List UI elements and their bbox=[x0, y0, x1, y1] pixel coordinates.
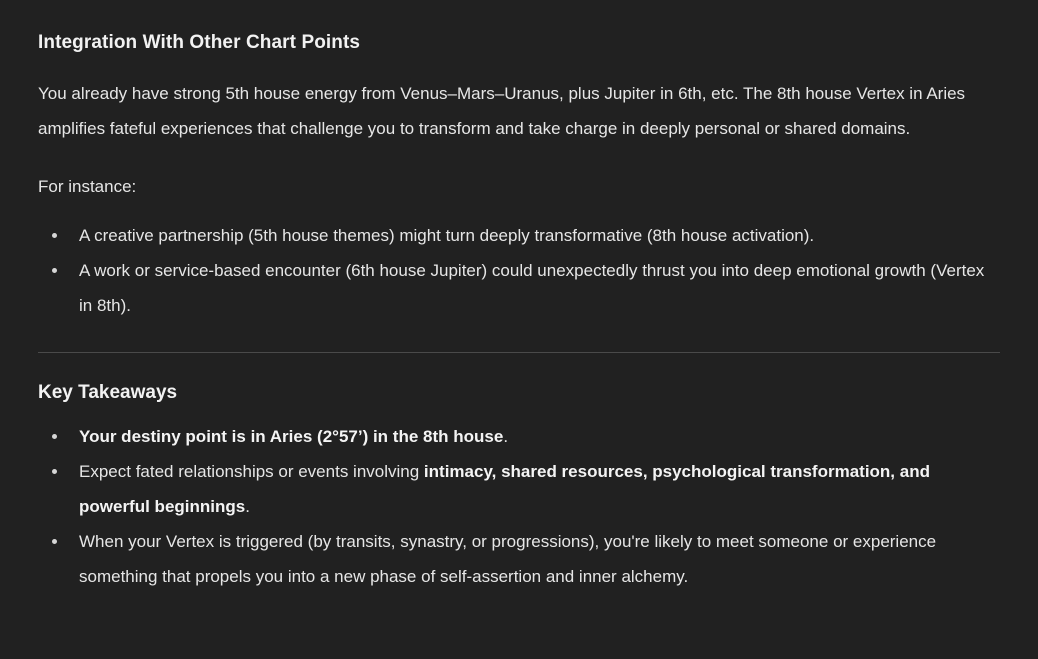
list-item: When your Vertex is triggered (by transi… bbox=[38, 524, 1000, 594]
list-item: A work or service-based encounter (6th h… bbox=[38, 253, 1000, 323]
section-divider bbox=[38, 352, 1000, 353]
integration-bullet-list: A creative partnership (5th house themes… bbox=[38, 218, 1000, 323]
plain-text: . bbox=[503, 427, 508, 446]
for-instance-label: For instance: bbox=[38, 169, 983, 204]
key-takeaways-bullet-list: Your destiny point is in Aries (2°57’) i… bbox=[38, 419, 1000, 594]
plain-text: . bbox=[245, 497, 250, 516]
plain-text: When your Vertex is triggered (by transi… bbox=[79, 532, 936, 586]
list-item: Expect fated relationships or events inv… bbox=[38, 454, 1000, 524]
page-title: Integration With Other Chart Points bbox=[38, 30, 1000, 56]
list-item: A creative partnership (5th house themes… bbox=[38, 218, 1000, 253]
key-takeaways-title: Key Takeaways bbox=[38, 380, 1000, 406]
integration-intro-paragraph: You already have strong 5th house energy… bbox=[38, 76, 983, 146]
article-page: Integration With Other Chart Points You … bbox=[0, 0, 1038, 659]
list-item: Your destiny point is in Aries (2°57’) i… bbox=[38, 419, 1000, 454]
plain-text: Expect fated relationships or events inv… bbox=[79, 462, 424, 481]
emphasis-text: Your destiny point is in Aries (2°57’) i… bbox=[79, 427, 503, 446]
